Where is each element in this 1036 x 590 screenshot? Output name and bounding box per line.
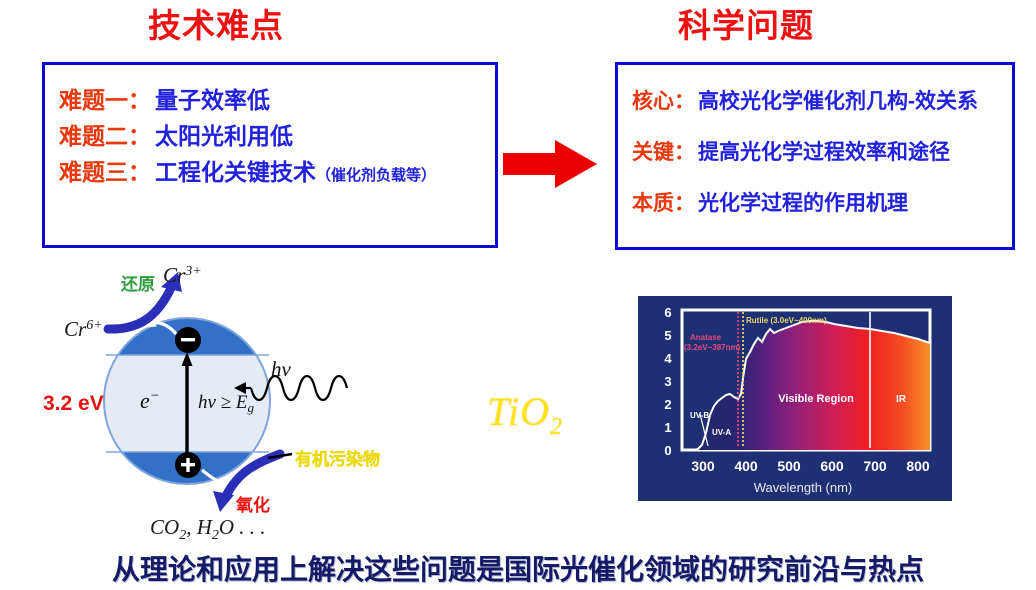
y-tick-4: 4 xyxy=(664,351,672,366)
difficulty-note-3: （催化剂负载等） xyxy=(316,164,436,185)
question-row-3: 本质： 光化学过程的作用机理 xyxy=(618,187,1012,217)
question-row-1: 核心： 高校光化学催化剂几构-效关系 xyxy=(618,85,1012,115)
difficulty-row-1: 难题一： 量子效率低 xyxy=(45,81,495,115)
annotation-anatase-line2: (3.2eV~387nm) xyxy=(684,343,741,352)
x-tick-700: 700 xyxy=(863,458,887,474)
y-tick-6: 6 xyxy=(664,305,671,320)
x-tick-400: 400 xyxy=(734,458,758,474)
products-label: CO2, H2O . . . xyxy=(150,515,266,543)
question-value-2: 提高光化学过程效率和途径 xyxy=(698,136,950,166)
annotation-visible-region: Visible Region xyxy=(778,393,854,405)
question-value-1: 高校光化学催化剂几构-效关系 xyxy=(698,85,978,115)
question-label-3: 本质： xyxy=(632,187,695,217)
difficulty-label-3: 难题三： xyxy=(59,153,151,187)
photon-condition-label: hν ≥ Eg xyxy=(198,392,254,415)
pollutant-label: 有机污染物 xyxy=(295,449,380,469)
tio2-formula-label: TiO2 xyxy=(487,388,563,441)
solar-spectrum-chart: 6 5 4 3 2 1 0 300 400 500 600 700 800 Wa… xyxy=(638,296,952,501)
difficulty-row-2: 难题二： 太阳光利用低 xyxy=(45,117,495,151)
y-tick-0: 0 xyxy=(664,443,671,458)
tio2-formula: TiO xyxy=(487,389,550,434)
annotation-ir: IR xyxy=(896,394,907,405)
annotation-uv-b: UV-B xyxy=(690,411,709,420)
slide-caption: 从理论和应用上解决这些问题是国际光催化领域的研究前沿与热点 xyxy=(0,548,1036,588)
oxidation-label: 氧化 xyxy=(235,495,270,515)
difficulty-label-2: 难题二： xyxy=(59,117,151,151)
y-tick-5: 5 xyxy=(664,328,671,343)
y-tick-2: 2 xyxy=(664,397,671,412)
page-title-technical-difficulties: 技术难点 xyxy=(148,9,284,42)
annotation-rutile: Rutile (3.0eV~400nm) xyxy=(746,316,827,325)
difficulty-value-3: 工程化关键技术 xyxy=(155,153,316,187)
scientific-questions-box: 核心： 高校光化学催化剂几构-效关系 关键： 提高光化学过程效率和途径 本质： … xyxy=(615,62,1015,250)
page-title-scientific-questions: 科学问题 xyxy=(678,9,814,42)
annotation-anatase-line1: Anatase xyxy=(690,333,722,342)
photocatalysis-mechanism-diagram: 3.2 eV 还原 氧化 Cr6+ Cr3+ e− hν ≥ Eg hν 有机污… xyxy=(30,258,490,546)
bandgap-label: 3.2 eV xyxy=(43,392,104,415)
difficulty-label-1: 难题一： xyxy=(59,81,151,115)
reduction-label: 还原 xyxy=(120,275,155,294)
cr3-label: Cr3+ xyxy=(163,263,202,287)
technical-difficulties-box: 难题一： 量子效率低 难题二： 太阳光利用低 难题三： 工程化关键技术 （催化剂… xyxy=(42,62,498,248)
question-label-1: 核心： xyxy=(632,85,695,115)
annotation-uv-a: UV-A xyxy=(712,428,731,437)
question-label-2: 关键： xyxy=(632,136,695,166)
tio2-subscript: 2 xyxy=(550,414,563,440)
question-row-2: 关键： 提高光化学过程效率和途径 xyxy=(618,136,1012,166)
difficulty-row-3: 难题三： 工程化关键技术 （催化剂负载等） xyxy=(45,153,495,187)
right-arrow-icon xyxy=(503,140,597,188)
x-tick-600: 600 xyxy=(820,458,844,474)
x-tick-800: 800 xyxy=(906,458,930,474)
difficulty-value-1: 量子效率低 xyxy=(155,81,270,115)
x-axis-label: Wavelength (nm) xyxy=(754,480,853,495)
y-tick-1: 1 xyxy=(664,420,671,435)
difficulty-value-2: 太阳光利用低 xyxy=(155,117,293,151)
question-value-3: 光化学过程的作用机理 xyxy=(698,187,908,217)
x-tick-500: 500 xyxy=(777,458,801,474)
photon-label: hν xyxy=(271,357,292,381)
cr6-label: Cr6+ xyxy=(64,317,103,341)
y-tick-3: 3 xyxy=(664,374,671,389)
x-tick-300: 300 xyxy=(691,458,715,474)
